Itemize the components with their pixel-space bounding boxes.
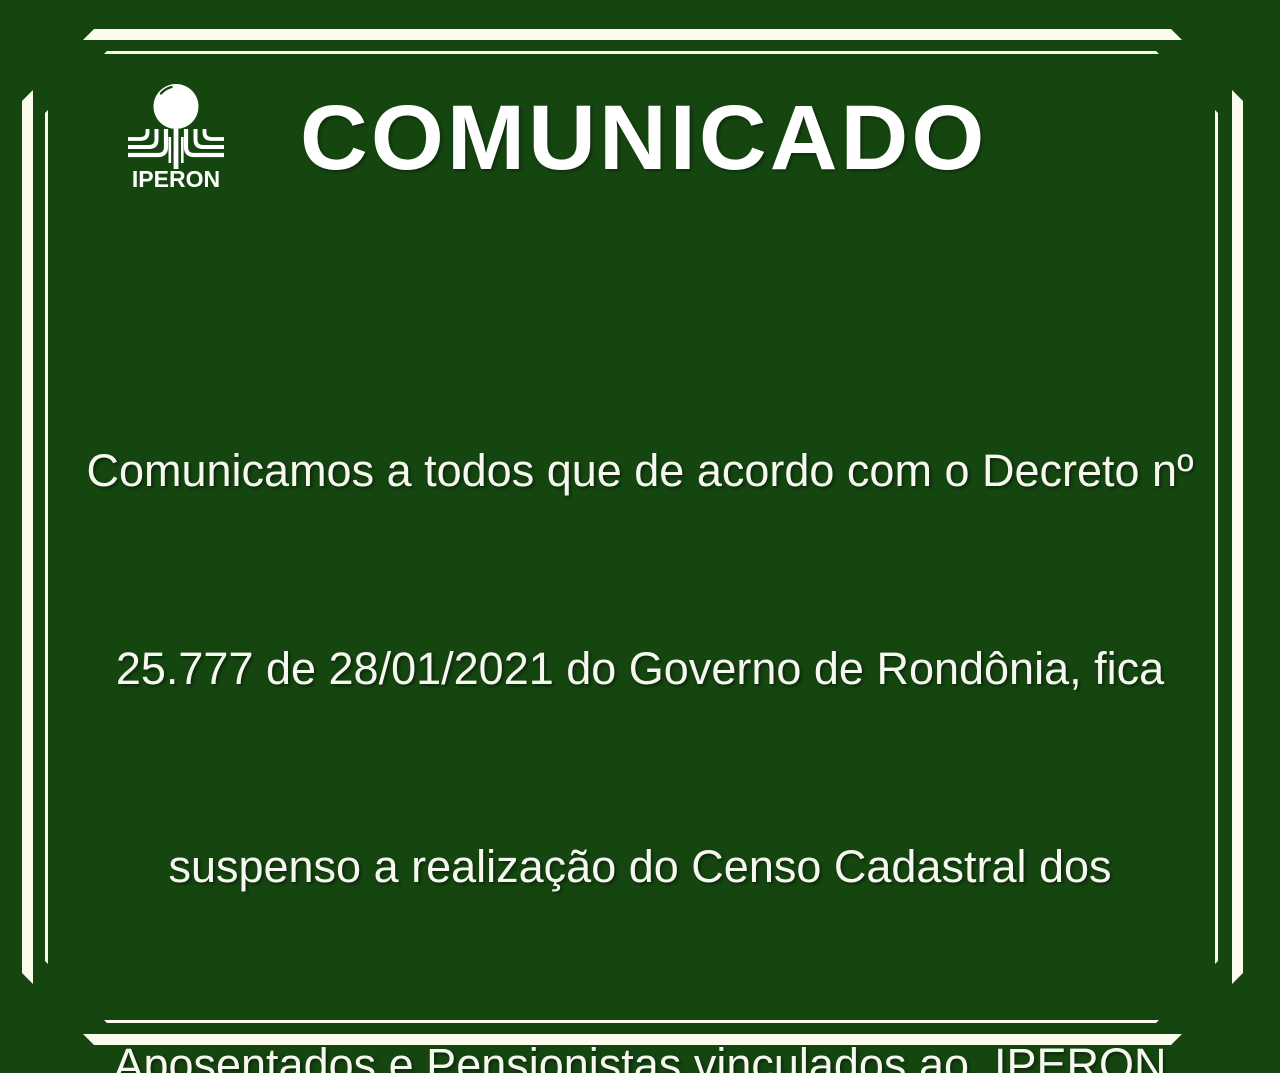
notice-line: suspenso a realização do Censo Cadastral…	[60, 834, 1220, 900]
logo-stub-right	[181, 137, 184, 163]
notice-line: 25.777 de 28/01/2021 do Governo de Rondô…	[60, 636, 1220, 702]
poster-header: IPERON COMUNICADO	[0, 78, 1280, 208]
iperon-logo-mark	[128, 84, 224, 169]
logo-trunk	[174, 129, 179, 169]
logo-roots-left	[128, 129, 166, 155]
notice-line: Aposentados e Pensionistas vinculados ao…	[60, 1032, 1220, 1073]
logo-stub-left	[169, 137, 172, 163]
logo-wordmark: IPERON	[132, 166, 220, 191]
iperon-logo: IPERON	[120, 81, 232, 191]
page-title: COMUNICADO	[300, 88, 1014, 188]
notice-body: Comunicamos a todos que de acordo com o …	[60, 306, 1220, 1073]
logo-roots-right	[186, 129, 224, 155]
notice-line: Comunicamos a todos que de acordo com o …	[60, 438, 1220, 504]
comunicado-poster: IPERON COMUNICADO Comunicamos a todos qu…	[0, 0, 1280, 1073]
logo-sphere-icon	[154, 84, 199, 129]
